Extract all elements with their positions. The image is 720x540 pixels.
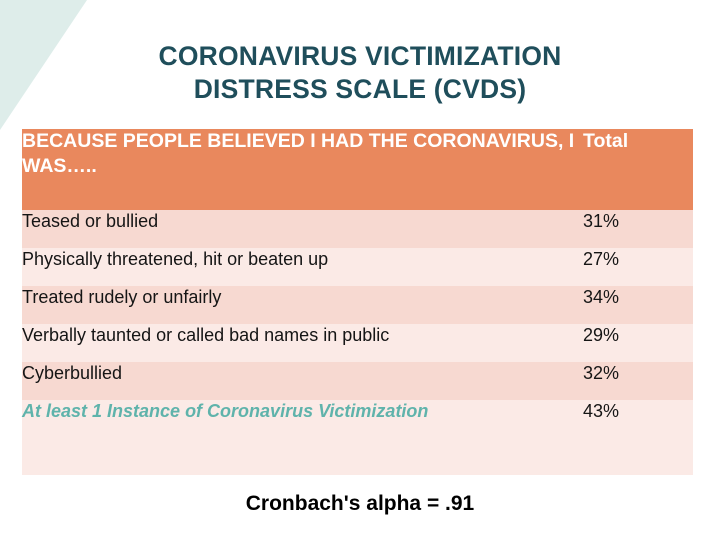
cell-total: 31% — [583, 210, 693, 248]
table-header-row: BECAUSE PEOPLE BELIEVED I HAD THE CORONA… — [22, 129, 693, 210]
table-row: Cyberbullied 32% — [22, 362, 693, 400]
slide-canvas: CORONAVIRUS VICTIMIZATION DISTRESS SCALE… — [0, 0, 720, 540]
footer-note: Cronbach's alpha = .91 — [0, 492, 720, 516]
cell-item: Teased or bullied — [22, 210, 583, 248]
cell-total: 27% — [583, 248, 693, 286]
page-title: CORONAVIRUS VICTIMIZATION DISTRESS SCALE… — [0, 40, 720, 106]
cell-item: Treated rudely or unfairly — [22, 286, 583, 324]
cell-item: Physically threatened, hit or beaten up — [22, 248, 583, 286]
cell-total: 32% — [583, 362, 693, 400]
table-row: Treated rudely or unfairly 34% — [22, 286, 693, 324]
cell-item-summary: At least 1 Instance of Coronavirus Victi… — [22, 400, 583, 475]
cell-total-summary: 43% — [583, 400, 693, 475]
column-header-item: BECAUSE PEOPLE BELIEVED I HAD THE CORONA… — [22, 129, 583, 210]
table-row: Teased or bullied 31% — [22, 210, 693, 248]
table-body: Teased or bullied 31% Physically threate… — [22, 210, 693, 475]
table-row: Verbally taunted or called bad names in … — [22, 324, 693, 362]
table-head: BECAUSE PEOPLE BELIEVED I HAD THE CORONA… — [22, 129, 693, 210]
cell-total: 34% — [583, 286, 693, 324]
table-row-summary: At least 1 Instance of Coronavirus Victi… — [22, 400, 693, 475]
cell-total: 29% — [583, 324, 693, 362]
cvds-table: BECAUSE PEOPLE BELIEVED I HAD THE CORONA… — [22, 129, 693, 475]
cell-item: Verbally taunted or called bad names in … — [22, 324, 583, 362]
page-title-line-2: DISTRESS SCALE (CVDS) — [0, 73, 720, 106]
cell-item: Cyberbullied — [22, 362, 583, 400]
page-title-line-1: CORONAVIRUS VICTIMIZATION — [0, 40, 720, 73]
table-row: Physically threatened, hit or beaten up … — [22, 248, 693, 286]
column-header-total: Total — [583, 129, 693, 210]
